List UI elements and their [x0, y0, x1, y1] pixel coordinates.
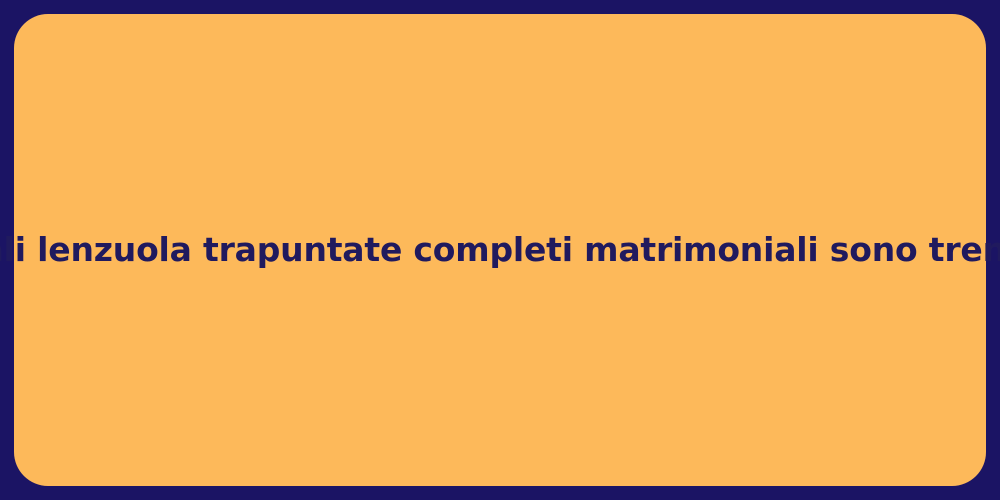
banner-card: Quali lenzuola trapuntate completi matri…: [14, 14, 986, 486]
page-title: Quali lenzuola trapuntate completi matri…: [0, 229, 1000, 270]
banner-frame: Quali lenzuola trapuntate completi matri…: [0, 0, 1000, 500]
